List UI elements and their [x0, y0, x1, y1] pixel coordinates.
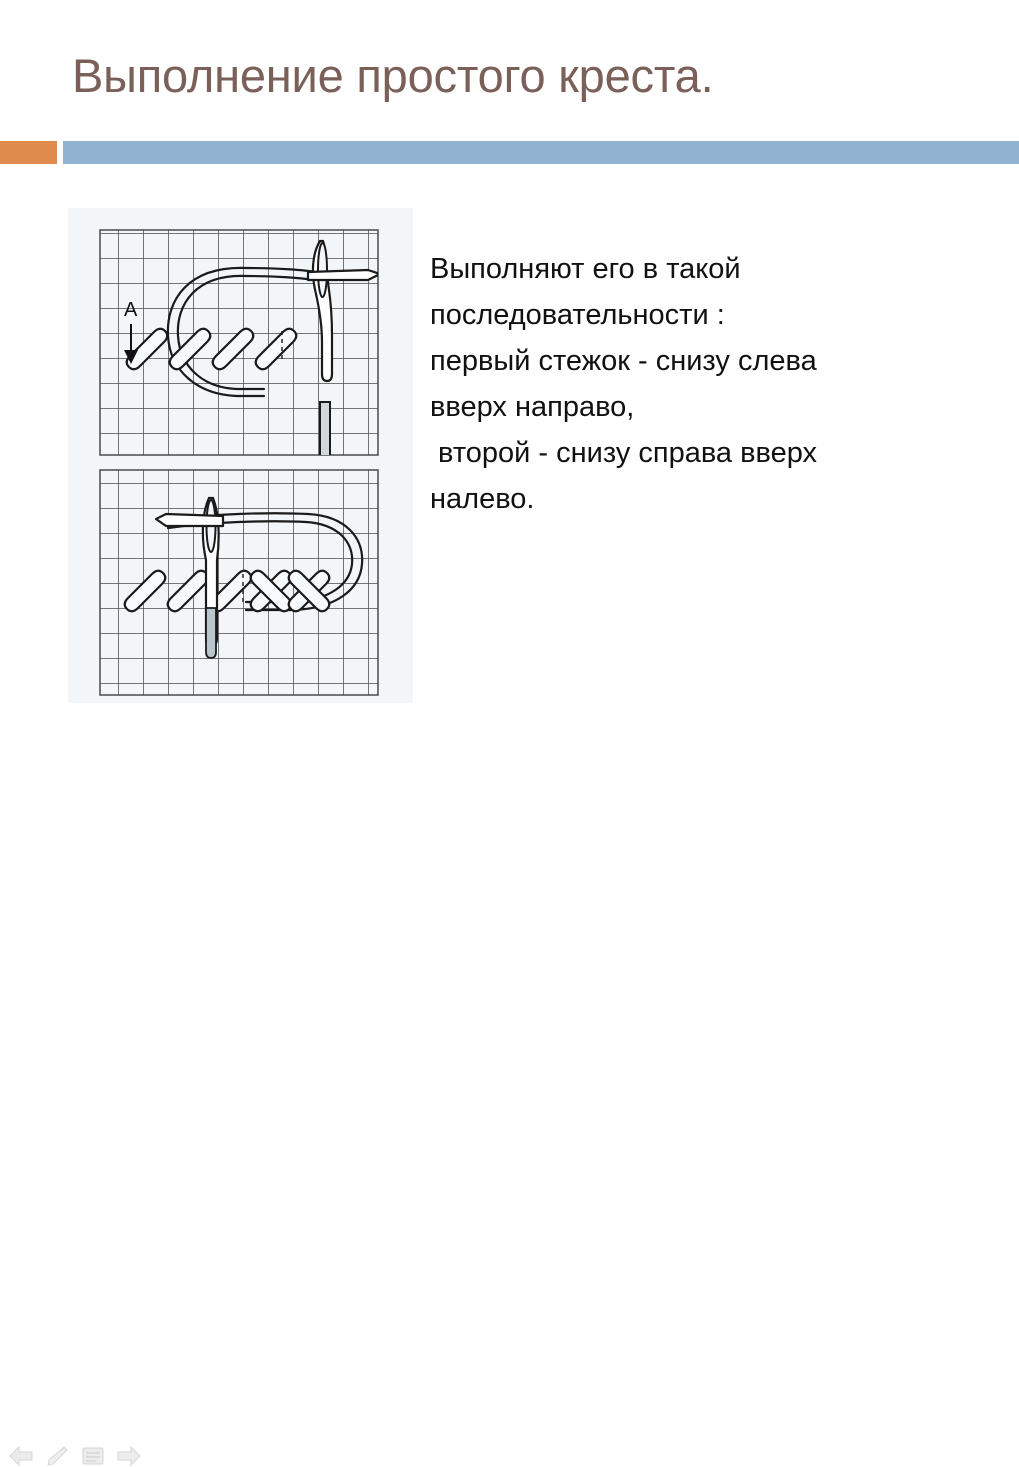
page-title: Выполнение простого креста.	[72, 48, 972, 104]
next-slide-button[interactable]	[116, 1445, 142, 1467]
slide-navigation-bar	[0, 717, 1019, 765]
slide-menu-button[interactable]	[80, 1445, 106, 1467]
thread-tail-bottom	[156, 514, 223, 526]
body-line-2: последовательности :	[430, 292, 970, 338]
body-line-5: второй - снизу справа вверх	[430, 430, 970, 476]
body-line-6: налево.	[430, 476, 970, 522]
title-accent-bar	[0, 141, 57, 164]
menu-icon	[80, 1445, 106, 1467]
pen-tool-button[interactable]	[44, 1445, 70, 1467]
cross-stitch-illustration: A	[68, 208, 413, 703]
title-divider-bar	[63, 141, 1019, 164]
pen-icon	[44, 1445, 70, 1467]
body-text-block: Выполняют его в такой последовательности…	[430, 246, 970, 522]
body-line-1: Выполняют его в такой	[430, 246, 970, 292]
arrow-right-icon	[116, 1445, 142, 1467]
thread-tail-top	[308, 270, 380, 280]
previous-slide-button[interactable]	[8, 1445, 34, 1467]
arrow-left-icon	[8, 1445, 34, 1467]
body-line-4: вверх направо,	[430, 384, 970, 430]
body-line-3: первый стежок - снизу слева	[430, 338, 970, 384]
figure-label-a: A	[124, 299, 138, 321]
